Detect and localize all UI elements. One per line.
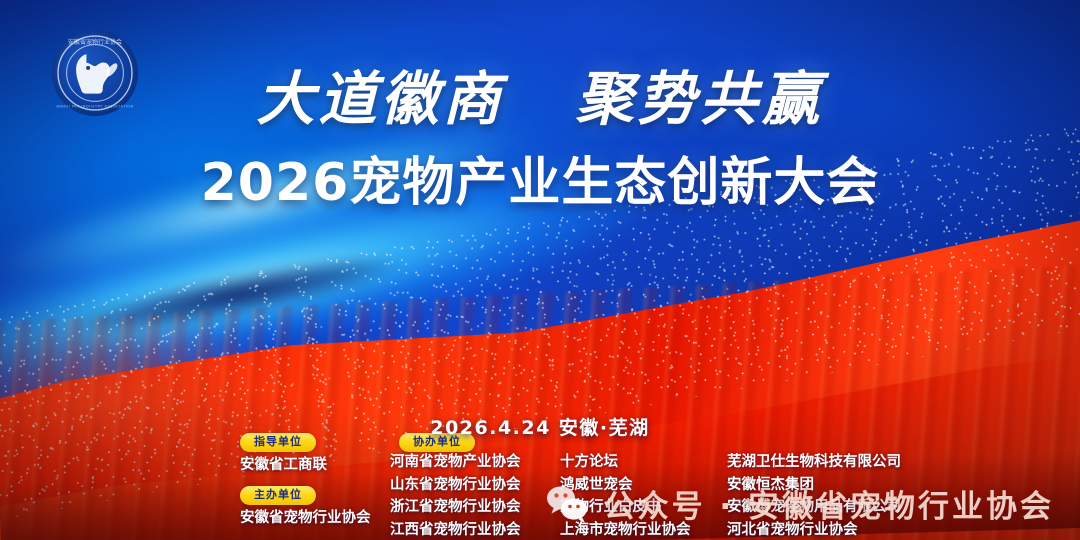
guidance-unit-list: 安徽省工商联: [240, 454, 327, 477]
list-item: 安徽省宠物行业协会: [240, 507, 371, 530]
list-item: 芜湖卫仕生物科技有限公司: [727, 451, 901, 474]
page-title: 2026宠物产业生态创新大会: [0, 140, 1080, 215]
wechat-account-label: 公众号 · 安徽省宠物行业协会: [604, 481, 1054, 526]
calligraphy-part2: 聚势共赢: [576, 67, 824, 132]
wechat-icon: [544, 484, 590, 524]
conference-poster: 安徽省宠物行业协会 ANHUI PET INDUSTRY ASSOCIATION…: [0, 0, 1080, 540]
partner-organizations-section: 指导单位 主办单位 协办单位 安徽省工商联 安徽省宠物行业协会 河南省宠物产业协…: [0, 214, 1080, 364]
list-item: 浙江省宠物行业协会: [390, 496, 550, 519]
list-item: 江西省宠物行业协会: [390, 519, 550, 540]
list-item: 十方论坛: [560, 451, 691, 474]
list-item: 河南省宠物产业协会: [390, 451, 550, 474]
coorganizer-list-column-1: 河南省宠物产业协会 山东省宠物行业协会 浙江省宠物行业协会 江西省宠物行业协会 …: [390, 451, 550, 540]
host-unit-list: 安徽省宠物行业协会: [240, 507, 371, 530]
event-date-location: 2026.4.24 安徽·芜湖: [0, 413, 1080, 440]
calligraphy-headline: 大道徽商 聚势共赢: [0, 52, 1080, 136]
badge-host-unit: 主办单位: [240, 486, 316, 505]
wechat-footer: 公众号 · 安徽省宠物行业协会: [544, 481, 1054, 526]
list-item: 山东省宠物行业协会: [390, 474, 550, 497]
svg-text:安徽省宠物行业协会: 安徽省宠物行业协会: [68, 38, 122, 46]
calligraphy-part1: 大道徽商: [256, 67, 504, 132]
list-item: 安徽省工商联: [240, 454, 327, 477]
